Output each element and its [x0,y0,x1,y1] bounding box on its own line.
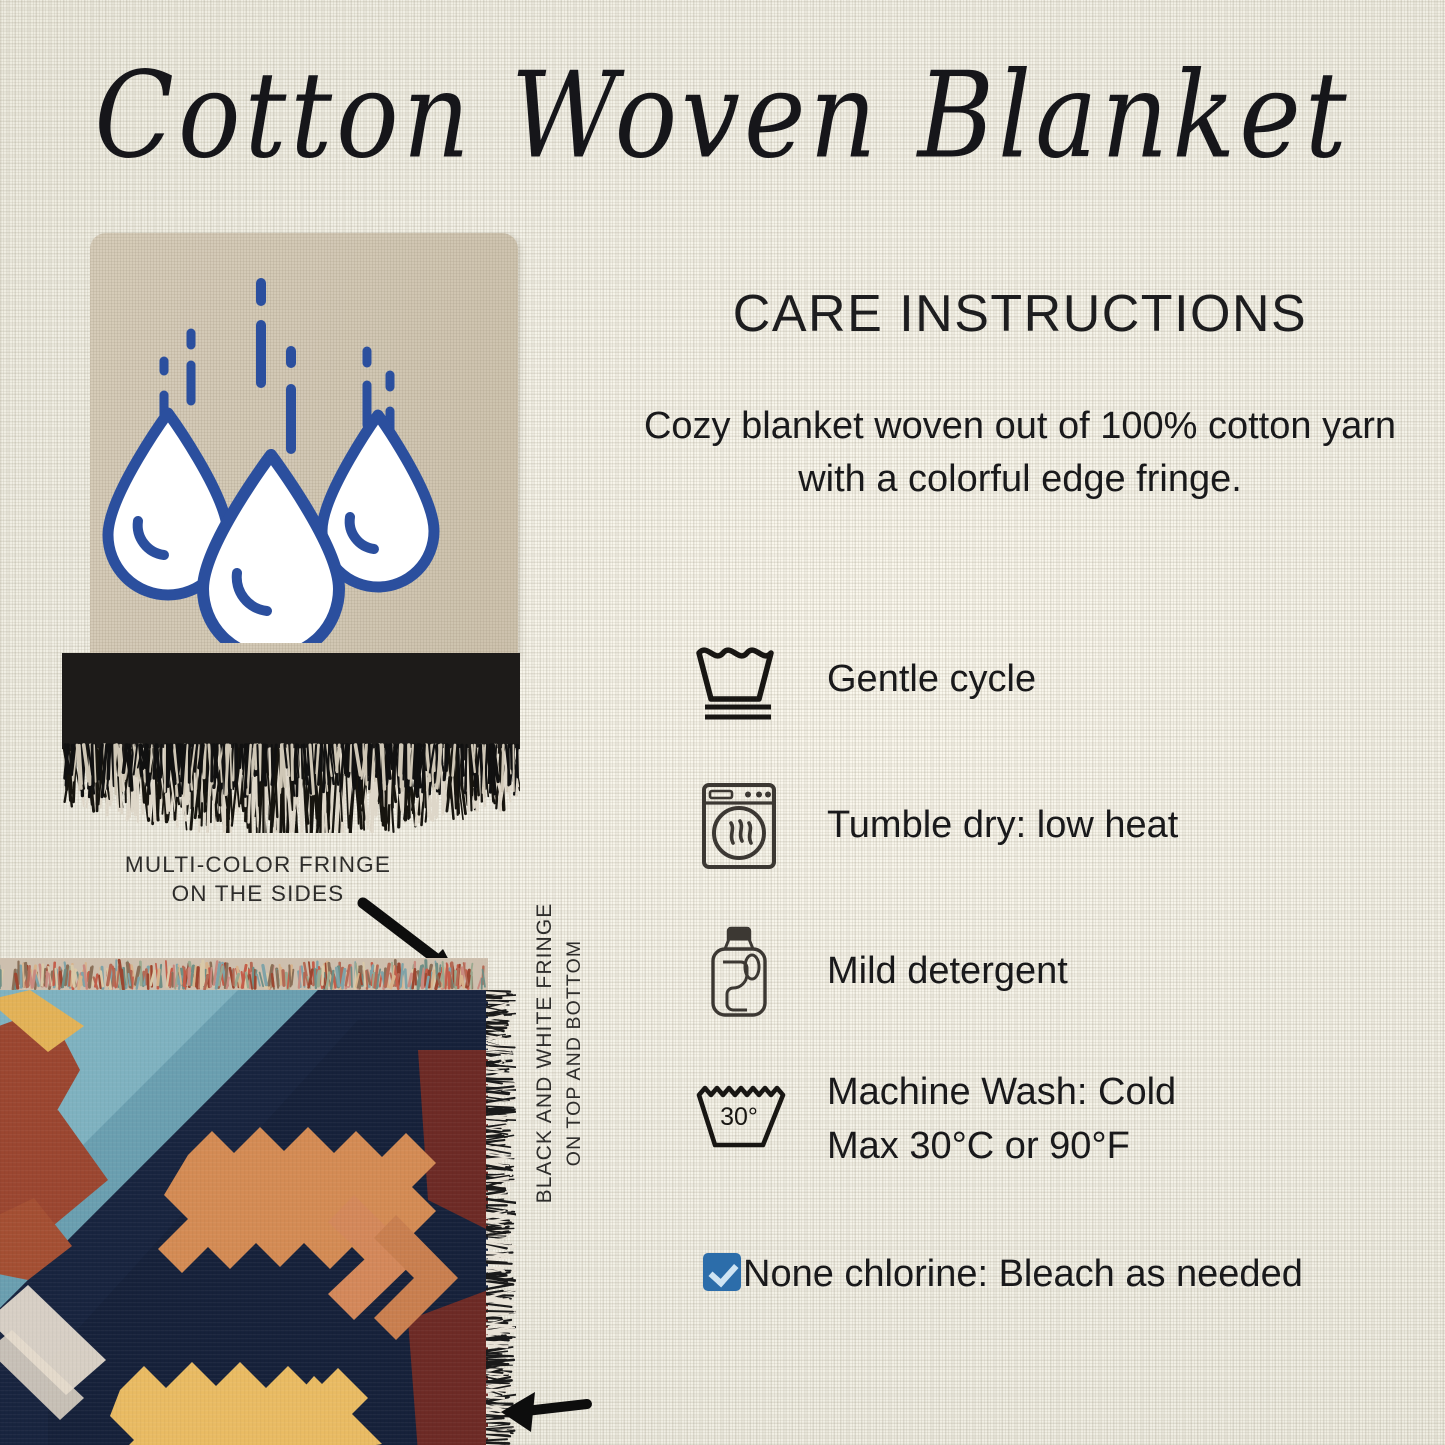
care-row-gentle-cycle: Gentle cycle [681,628,1441,732]
rug-product-photo [0,958,516,1445]
detergent-bottle-icon [681,922,797,1022]
arrow-left-icon [487,1382,597,1438]
page-title: Cotton Woven Blanket [0,46,1445,185]
blanket-black-white-fringe: noop [62,653,520,833]
care-row-machine-wash: 30° Machine Wash: Cold Max 30°C or 90°F [681,1066,1441,1174]
water-droplet-print [90,243,518,643]
wash-basin-gentle-icon [681,637,797,723]
infographic-canvas: Cotton Woven Blanket [0,0,1445,1445]
care-row-tumble-dry: Tumble dry: low heat [681,774,1441,878]
care-symbol-list: Gentle cycle Tumble dry: low heat [681,628,1441,1216]
annotation-bw-line1: BLACK AND WHITE FRINGE [530,863,560,1243]
rug-aztec-pattern [0,990,488,1445]
annotation-multicolor-line1: MULTI-COLOR FRINGE [58,850,458,879]
care-label-machine-wash-line2: Max 30°C or 90°F [827,1120,1176,1174]
care-description: Cozy blanket woven out of 100% cotton ya… [615,400,1425,506]
blue-checkbox-icon [703,1253,741,1291]
annotation-bw-line2: ON TOP AND BOTTOM [560,863,588,1243]
droplet-center [203,455,339,643]
care-label-bleach: None chlorine: Bleach as needed [743,1253,1303,1295]
care-row-bleach: None chlorine: Bleach as needed [703,1248,1353,1302]
care-label-tumble-dry: Tumble dry: low heat [797,799,1178,853]
care-heading: CARE INSTRUCTIONS [615,284,1425,344]
care-label-detergent: Mild detergent [797,945,1068,999]
care-label-machine-wash: Machine Wash: Cold Max 30°C or 90°F [797,1066,1176,1174]
care-instructions-panel: CARE INSTRUCTIONS Cozy blanket woven out… [615,284,1425,506]
tumble-dryer-icon [681,779,797,873]
care-row-detergent: Mild detergent [681,920,1441,1024]
blanket-product-photo: noop [62,233,520,833]
wash-temperature-label: 30° [720,1103,758,1131]
rug-multicolor-fringe [0,958,488,992]
care-label-machine-wash-line1: Machine Wash: Cold [827,1066,1176,1120]
care-label-gentle-cycle: Gentle cycle [797,653,1036,707]
annotation-bw-fringe: BLACK AND WHITE FRINGE ON TOP AND BOTTOM [530,863,576,1243]
wash-basin-30-icon: 30° [681,1079,797,1161]
rug-black-white-fringe [486,990,516,1445]
